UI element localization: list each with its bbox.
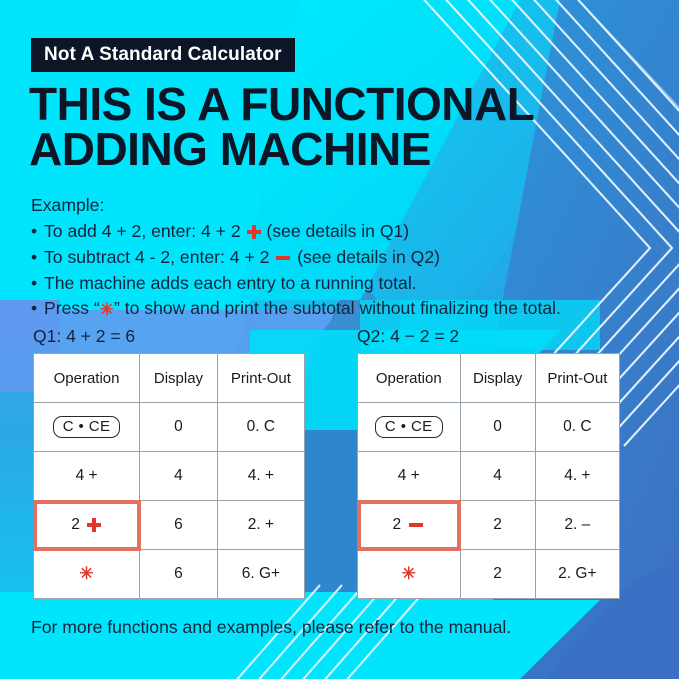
q2-label: Q2: 4 − 2 = 2 (357, 326, 459, 347)
q1-row3-operation-highlighted: 2 (34, 501, 140, 550)
page-title: THIS IS A FUNCTIONAL ADDING MACHINE (29, 82, 649, 172)
bullet-item-2: •To subtract 4 - 2, enter: 4 + 2 (see de… (31, 245, 659, 271)
q2-row3-display: 2 (460, 501, 535, 550)
q1-row2-printout: 4. + (217, 452, 304, 501)
q1-row1-printout: 0. C (217, 403, 304, 452)
clear-key[interactable]: C • CE (53, 416, 121, 438)
table-row: 2 2 2. – (358, 501, 620, 550)
q1-label: Q1: 4 + 2 = 6 (33, 326, 135, 347)
q1-table: Operation Display Print-Out C • CE 0 0. … (33, 353, 305, 599)
q2-col-printout: Print-Out (535, 354, 619, 403)
table-row: 4 + 4 4. + (34, 452, 305, 501)
minus-icon[interactable] (409, 523, 423, 527)
q2-col-operation: Operation (358, 354, 461, 403)
q1-col-operation: Operation (34, 354, 140, 403)
table-row: ✳ 6 6. G+ (34, 550, 305, 599)
content-layer: Not A Standard Calculator THIS IS A FUNC… (0, 0, 679, 679)
q2-row1-printout: 0. C (535, 403, 619, 452)
bullet-item-1: •To add 4 + 2, enter: 4 + 2 (see details… (31, 219, 659, 245)
bullet-item-4: •Press “✳” to show and print the subtota… (31, 296, 659, 322)
q1-row4-operation: ✳ (34, 550, 140, 599)
bullet-4-text: Press “ (44, 298, 100, 318)
headline-line-2: ADDING MACHINE (29, 127, 649, 172)
bullet-4-suffix: ” to show and print the subtotal without… (114, 298, 561, 318)
bullet-3-text: The machine adds each entry to a running… (44, 273, 417, 293)
q2-table: Operation Display Print-Out C • CE 0 0. … (357, 353, 620, 599)
q1-row1-display: 0 (140, 403, 218, 452)
minus-icon (276, 256, 290, 260)
q1-row3-printout: 2. + (217, 501, 304, 550)
table-row: ✳ 2 2. G+ (358, 550, 620, 599)
bullet-1-text: To add 4 + 2, enter: 4 + 2 (44, 221, 241, 241)
q2-row4-printout: 2. G+ (535, 550, 619, 599)
q1-col-printout: Print-Out (217, 354, 304, 403)
q2-row4-operation: ✳ (358, 550, 461, 599)
table-row-header: Operation Display Print-Out (34, 354, 305, 403)
example-lead: Example: (31, 193, 659, 219)
q1-row1-operation: C • CE (34, 403, 140, 452)
q1-col-display: Display (140, 354, 218, 403)
table-row-header: Operation Display Print-Out (358, 354, 620, 403)
q2-row3-op-group: 2 (392, 516, 425, 534)
asterisk-icon: ✳ (100, 301, 114, 318)
bullet-marker: • (31, 296, 44, 322)
bullet-marker: • (31, 245, 44, 271)
bullet-marker: • (31, 271, 44, 297)
table-row: C • CE 0 0. C (34, 403, 305, 452)
q2-row2-operation: 4 + (358, 452, 461, 501)
q2-row3-op-value: 2 (392, 516, 401, 534)
bullet-1-suffix: (see details in Q1) (266, 221, 409, 241)
q2-row2-printout: 4. + (535, 452, 619, 501)
q1-row3-op-value: 2 (71, 516, 80, 534)
table-row: 4 + 4 4. + (358, 452, 620, 501)
q1-row3-op-group: 2 (71, 516, 102, 534)
clear-key[interactable]: C • CE (375, 416, 443, 438)
q2-col-display: Display (460, 354, 535, 403)
plus-icon[interactable] (87, 518, 101, 532)
asterisk-icon[interactable]: ✳ (402, 565, 416, 582)
table-row: C • CE 0 0. C (358, 403, 620, 452)
bullet-2-suffix: (see details in Q2) (297, 247, 440, 267)
q1-row4-display: 6 (140, 550, 218, 599)
example-block: Example: •To add 4 + 2, enter: 4 + 2 (se… (31, 193, 659, 322)
q1-row2-display: 4 (140, 452, 218, 501)
q2-row3-printout: 2. – (535, 501, 619, 550)
footer-note: For more functions and examples, please … (31, 617, 511, 638)
q2-row1-operation: C • CE (358, 403, 461, 452)
q1-row3-display: 6 (140, 501, 218, 550)
q1-row4-printout: 6. G+ (217, 550, 304, 599)
bullet-item-3: •The machine adds each entry to a runnin… (31, 271, 659, 297)
infographic-canvas: Not A Standard Calculator THIS IS A FUNC… (0, 0, 679, 679)
q1-row2-operation: 4 + (34, 452, 140, 501)
q2-row1-display: 0 (460, 403, 535, 452)
table-row: 2 6 2. + (34, 501, 305, 550)
q2-row3-operation-highlighted: 2 (358, 501, 461, 550)
plus-icon (247, 225, 261, 239)
eyebrow-badge: Not A Standard Calculator (31, 38, 295, 72)
q2-row4-display: 2 (460, 550, 535, 599)
asterisk-icon[interactable]: ✳ (79, 565, 93, 582)
bullet-marker: • (31, 219, 44, 245)
q2-row2-display: 4 (460, 452, 535, 501)
bullet-2-text: To subtract 4 - 2, enter: 4 + 2 (44, 247, 269, 267)
